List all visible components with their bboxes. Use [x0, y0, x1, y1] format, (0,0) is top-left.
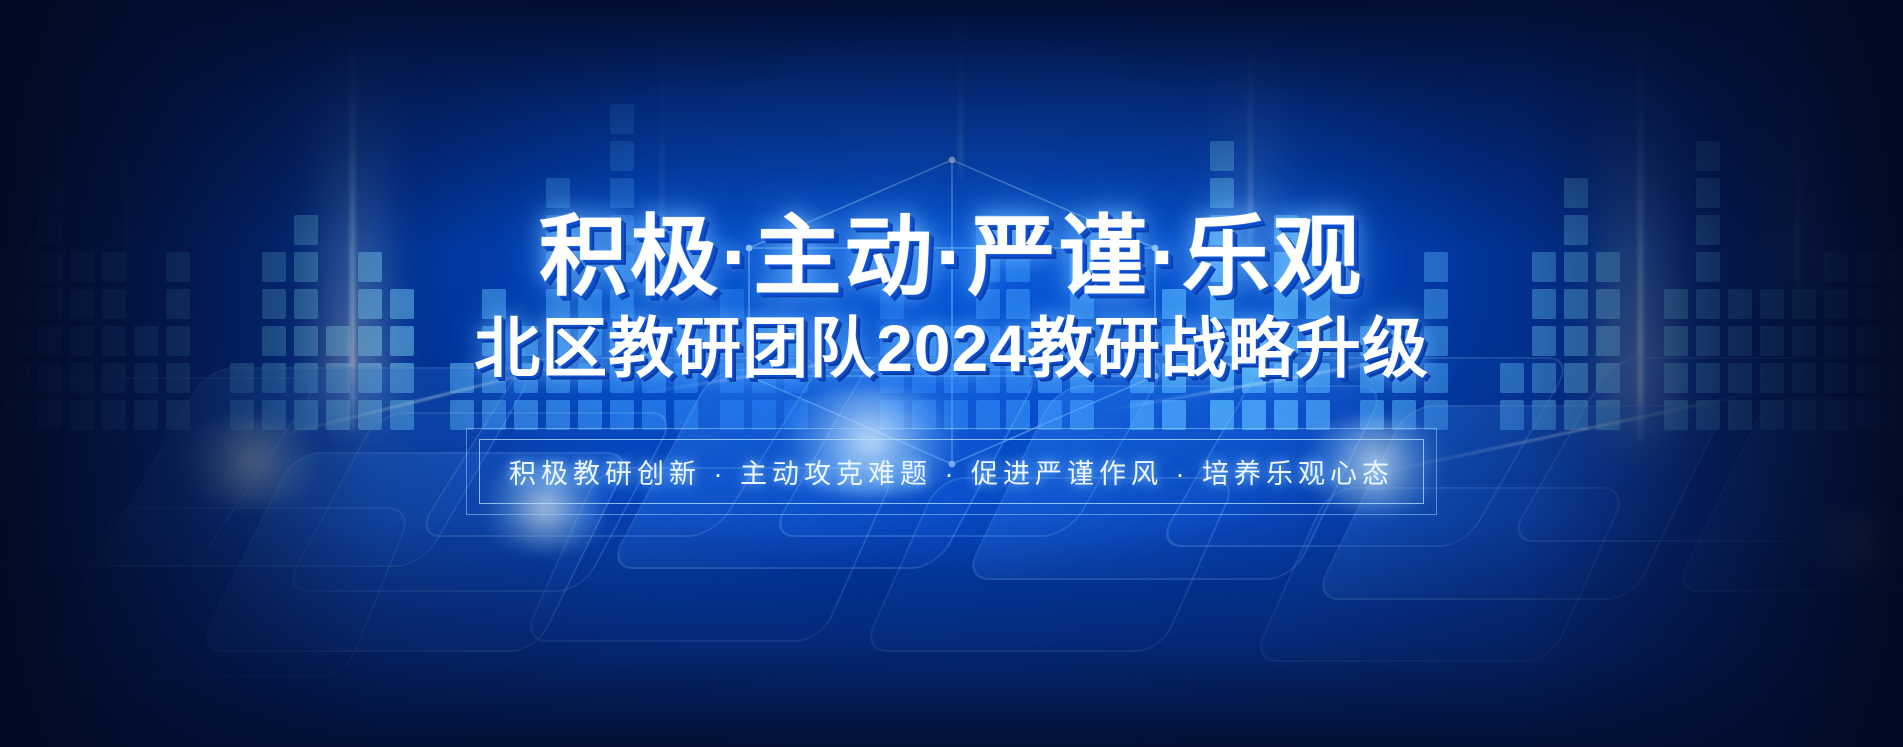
banner-title-sub: 北区教研团队2024教研战略升级 — [474, 315, 1429, 381]
tagline-frame: 积极教研创新 · 主动攻克难题 · 促进严谨作风 · 培养乐观心态 — [479, 439, 1424, 504]
banner-title-main: 积极·主动·严谨·乐观 — [539, 213, 1364, 301]
banner-content: 积极·主动·严谨·乐观 北区教研团队2024教研战略升级 积极教研创新 · 主动… — [0, 0, 1903, 747]
banner-tagline: 积极教研创新 · 主动攻克难题 · 促进严谨作风 · 培养乐观心态 — [479, 439, 1424, 504]
banner-root: 积极·主动·严谨·乐观 北区教研团队2024教研战略升级 积极教研创新 · 主动… — [0, 0, 1903, 747]
